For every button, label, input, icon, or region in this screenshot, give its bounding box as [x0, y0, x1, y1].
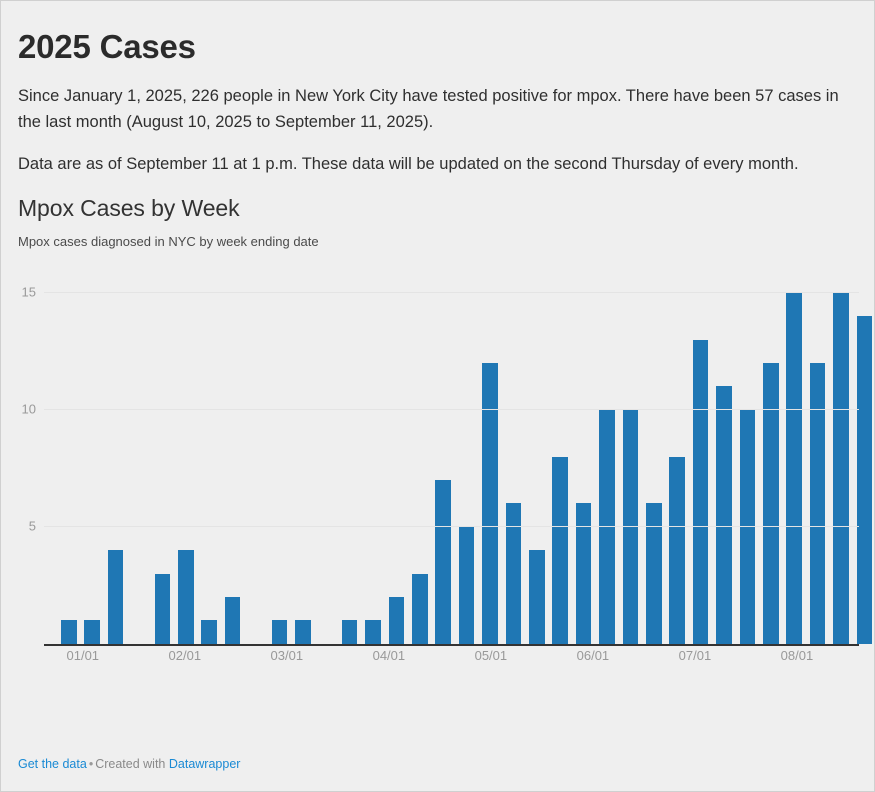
page-title: 2025 Cases	[18, 28, 857, 66]
bar[interactable]	[552, 457, 568, 644]
bar[interactable]	[178, 550, 194, 644]
bar[interactable]	[108, 550, 124, 644]
bar[interactable]	[295, 620, 311, 643]
intro-paragraph-2: Data are as of September 11 at 1 p.m. Th…	[18, 152, 857, 178]
bar[interactable]	[342, 620, 358, 643]
chart-subtitle: Mpox cases diagnosed in NYC by week endi…	[18, 234, 857, 249]
bar-chart: 51015 01/0102/0103/0104/0105/0106/0107/0…	[18, 271, 859, 671]
gridline-5: 5	[44, 526, 859, 527]
intro-paragraph-1: Since January 1, 2025, 226 people in New…	[18, 84, 857, 135]
x-axis-baseline	[44, 644, 859, 646]
chart-plot-area: 51015	[44, 271, 859, 646]
bar[interactable]	[389, 597, 405, 644]
bar[interactable]	[529, 550, 545, 644]
datawrapper-link[interactable]: Datawrapper	[169, 757, 241, 771]
x-axis-tick-label: 05/01	[475, 648, 508, 663]
y-axis-tick-label: 15	[22, 284, 36, 299]
x-axis-tick-label: 08/01	[781, 648, 814, 663]
y-axis-tick-label: 5	[29, 518, 36, 533]
y-axis-tick-label: 10	[22, 401, 36, 416]
bar[interactable]	[716, 386, 732, 643]
x-axis-ticks: 01/0102/0103/0104/0105/0106/0107/0108/01…	[44, 648, 859, 670]
x-axis-tick-label: 01/01	[67, 648, 100, 663]
bar[interactable]	[201, 620, 217, 643]
x-axis-tick-label: 07/01	[679, 648, 712, 663]
bar[interactable]	[435, 480, 451, 644]
bar[interactable]	[810, 363, 826, 644]
x-axis-tick-label: 04/01	[373, 648, 406, 663]
bar[interactable]	[833, 293, 849, 644]
bar[interactable]	[225, 597, 241, 644]
bar-series	[44, 271, 859, 644]
bar[interactable]	[84, 620, 100, 643]
get-the-data-link[interactable]: Get the data	[18, 757, 87, 771]
created-with-label: Created with	[95, 757, 165, 771]
footer-separator: •	[87, 757, 95, 771]
bar[interactable]	[272, 620, 288, 643]
bar[interactable]	[740, 410, 756, 644]
chart-title: Mpox Cases by Week	[18, 195, 857, 222]
gridline-10: 10	[44, 409, 859, 410]
bar[interactable]	[599, 410, 615, 644]
chart-footer: Get the data•Created with Datawrapper	[18, 757, 240, 771]
bar[interactable]	[506, 503, 522, 643]
bar[interactable]	[763, 363, 779, 644]
mpox-cases-page: 2025 Cases Since January 1, 2025, 226 pe…	[0, 0, 875, 792]
bar[interactable]	[576, 503, 592, 643]
bar[interactable]	[693, 340, 709, 644]
bar[interactable]	[482, 363, 498, 644]
bar[interactable]	[412, 574, 428, 644]
bar[interactable]	[857, 316, 873, 644]
bar[interactable]	[786, 293, 802, 644]
bar[interactable]	[646, 503, 662, 643]
x-axis-tick-label: 06/01	[577, 648, 610, 663]
bar[interactable]	[459, 527, 475, 644]
gridline-15: 15	[44, 292, 859, 293]
bar[interactable]	[669, 457, 685, 644]
bar[interactable]	[61, 620, 77, 643]
x-axis-tick-label: 02/01	[169, 648, 202, 663]
bar[interactable]	[155, 574, 171, 644]
bar[interactable]	[365, 620, 381, 643]
bar[interactable]	[623, 410, 639, 644]
x-axis-tick-label: 03/01	[271, 648, 304, 663]
